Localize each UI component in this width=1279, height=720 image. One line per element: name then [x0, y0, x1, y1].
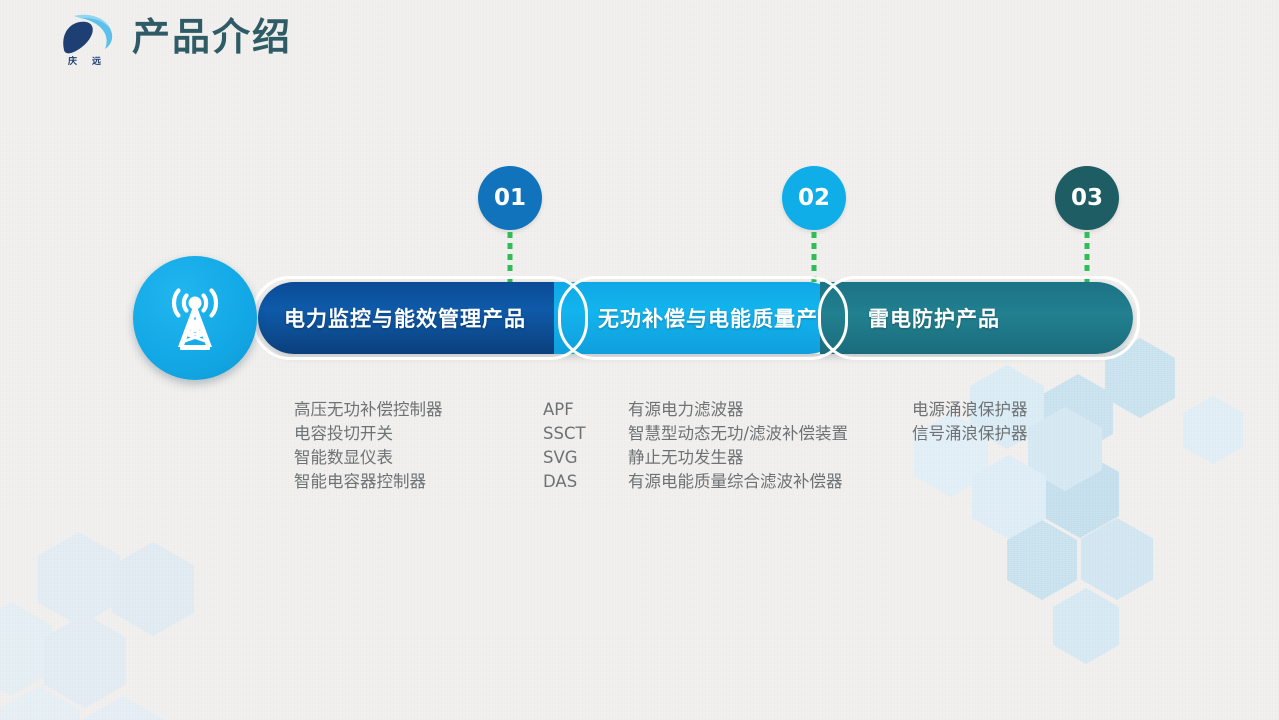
product-item: 智能电容器控制器	[294, 470, 443, 494]
product-item: APF 有源电力滤波器	[543, 398, 848, 422]
product-abbreviation: DAS	[543, 470, 628, 494]
page-header: 庆 远 产品介绍	[52, 12, 292, 68]
product-item: SVG 静止无功发生器	[543, 446, 848, 470]
ribbon-segment-reactive-power[interactable]: 无功补偿与电能质量产品	[554, 282, 844, 354]
product-column-lightning-protection: 电源涌浪保护器 信号涌浪保护器	[912, 398, 1028, 446]
step-node-03[interactable]: 03	[1055, 166, 1119, 230]
hexagon	[38, 532, 120, 626]
product-name: 智能电容器控制器	[294, 472, 426, 491]
product-name: 有源电能质量综合滤波补偿器	[628, 470, 843, 494]
product-lists: 高压无功补偿控制器 电容投切开关 智能数显仪表 智能电容器控制器 APF 有源电…	[0, 398, 1279, 518]
hexagon	[1053, 588, 1119, 664]
product-category-ribbon: 电力监控与能效管理产品 无功补偿与电能质量产品 雷电防护产品	[258, 282, 1133, 354]
step-number-03: 03	[1071, 185, 1103, 211]
product-abbreviation: SSCT	[543, 422, 628, 446]
radio-tower-icon	[156, 279, 234, 357]
product-name: 智能数显仪表	[294, 448, 393, 467]
product-item: DAS 有源电能质量综合滤波补偿器	[543, 470, 848, 494]
tower-top-knob	[189, 297, 202, 310]
product-column-power-monitoring: 高压无功补偿控制器 电容投切开关 智能数显仪表 智能电容器控制器	[294, 398, 443, 494]
hexagon	[112, 542, 194, 636]
ribbon-segment-lightning-protection[interactable]: 雷电防护产品	[820, 282, 1133, 354]
step-number-01: 01	[494, 185, 526, 211]
product-item: 信号涌浪保护器	[912, 422, 1028, 446]
radio-tower-badge[interactable]	[133, 256, 257, 380]
product-name: 有源电力滤波器	[628, 398, 744, 422]
product-item: 高压无功补偿控制器	[294, 398, 443, 422]
logo-text-yuan: 远	[92, 56, 102, 67]
page-title: 产品介绍	[132, 18, 292, 62]
product-name: 电容投切开关	[294, 424, 393, 443]
product-abbreviation: SVG	[543, 446, 628, 470]
product-abbreviation: APF	[543, 398, 628, 422]
product-name: 静止无功发生器	[628, 446, 744, 470]
hexagon-pattern-left	[0, 510, 260, 720]
logo-mark: 庆 远	[52, 12, 124, 68]
product-item: 智能数显仪表	[294, 446, 443, 470]
ribbon-segment-power-monitoring[interactable]: 电力监控与能效管理产品	[258, 282, 578, 354]
qingyuan-logo: 庆 远	[52, 12, 124, 68]
product-item: 电源涌浪保护器	[912, 398, 1028, 422]
product-item: 电容投切开关	[294, 422, 443, 446]
hexagon	[44, 614, 126, 708]
step-number-02: 02	[798, 185, 830, 211]
step-node-01[interactable]: 01	[478, 166, 542, 230]
step-circle-01[interactable]: 01	[478, 166, 542, 230]
product-item: SSCT 智慧型动态无功/滤波补偿装置	[543, 422, 848, 446]
logo-text-qing: 庆	[67, 55, 77, 67]
product-name: 高压无功补偿控制器	[294, 400, 443, 419]
step-node-02[interactable]: 02	[782, 166, 846, 230]
step-circle-02[interactable]: 02	[782, 166, 846, 230]
ribbon-segment-1-label: 电力监控与能效管理产品	[284, 303, 526, 333]
ribbon-segment-3-label: 雷电防护产品	[868, 303, 1000, 333]
product-name: 信号涌浪保护器	[912, 424, 1028, 443]
product-name: 智慧型动态无功/滤波补偿装置	[628, 422, 848, 446]
slide-canvas: 庆 远 产品介绍 01 02 03 电力监控与能效管理产品 无功补偿与电能质量产…	[0, 0, 1279, 720]
step-circle-03[interactable]: 03	[1055, 166, 1119, 230]
product-column-reactive-power: APF 有源电力滤波器 SSCT 智慧型动态无功/滤波补偿装置 SVG 静止无功…	[543, 398, 848, 494]
product-name: 电源涌浪保护器	[912, 400, 1028, 419]
ribbon-segment-2-label: 无功补偿与电能质量产品	[598, 303, 840, 333]
